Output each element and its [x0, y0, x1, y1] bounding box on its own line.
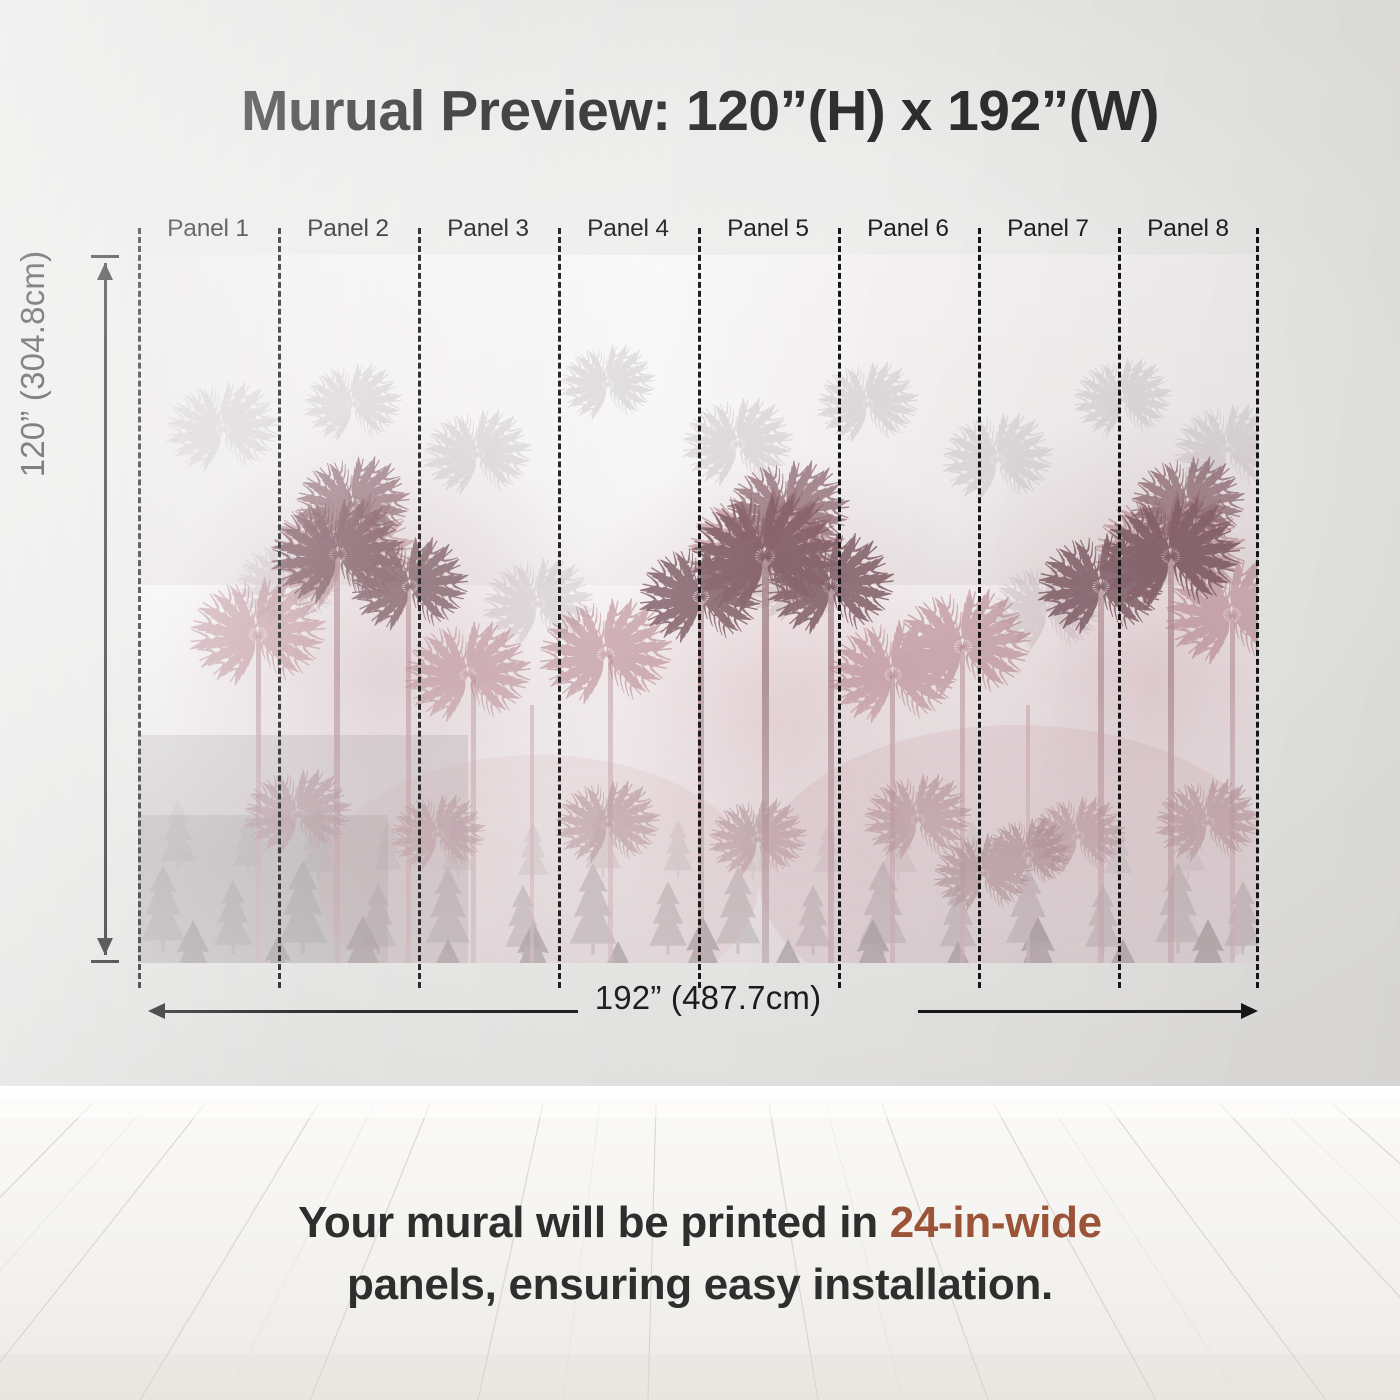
panel-divider-1 [278, 228, 281, 988]
mural-preview-screenshot: Murual Preview: 120”(H) x 192”(W) Panel … [0, 0, 1400, 1400]
width-line-right [918, 1010, 1244, 1013]
width-arrow-right [1241, 1003, 1258, 1019]
panel-divider-3 [558, 228, 561, 988]
panel-divider-7 [1118, 228, 1121, 988]
caption-line1-text: Your mural will be printed in [298, 1198, 890, 1247]
height-arrow-up [97, 263, 113, 280]
height-dimension [86, 255, 126, 963]
panel-divider-4 [698, 228, 701, 988]
panel-label-3: Panel 3 [418, 212, 558, 246]
panel-divider-5 [838, 228, 841, 988]
panel-label-4: Panel 4 [558, 212, 698, 246]
caption: Your mural will be printed in 24-in-wide… [0, 1192, 1400, 1316]
panel-label-7: Panel 7 [978, 212, 1118, 246]
panel-label-2: Panel 2 [278, 212, 418, 246]
panel-divider-right-edge [1256, 228, 1259, 988]
caption-line-2: panels, ensuring easy installation. [0, 1254, 1400, 1316]
panel-divider-6 [978, 228, 981, 988]
height-arrow-down [97, 938, 113, 955]
height-cap-top [91, 255, 119, 258]
height-cap-bottom [91, 960, 119, 963]
page-title: Murual Preview: 120”(H) x 192”(W) [0, 78, 1400, 144]
width-dimension: 192” (487.7cm) [148, 1000, 1258, 1024]
panel-label-8: Panel 8 [1118, 212, 1258, 246]
caption-line-1: Your mural will be printed in 24-in-wide [0, 1192, 1400, 1254]
panel-label-1: Panel 1 [138, 212, 278, 246]
panel-divider-2 [418, 228, 421, 988]
panel-label-6: Panel 6 [838, 212, 978, 246]
width-line-left [162, 1010, 578, 1013]
height-dimension-label: 120” (304.8cm) [14, 84, 52, 644]
panel-label-5: Panel 5 [698, 212, 838, 246]
panel-divider-left-edge [138, 228, 141, 988]
width-dimension-label: 192” (487.7cm) [578, 979, 838, 1017]
caption-accent: 24-in-wide [890, 1198, 1102, 1247]
height-line [104, 263, 107, 955]
